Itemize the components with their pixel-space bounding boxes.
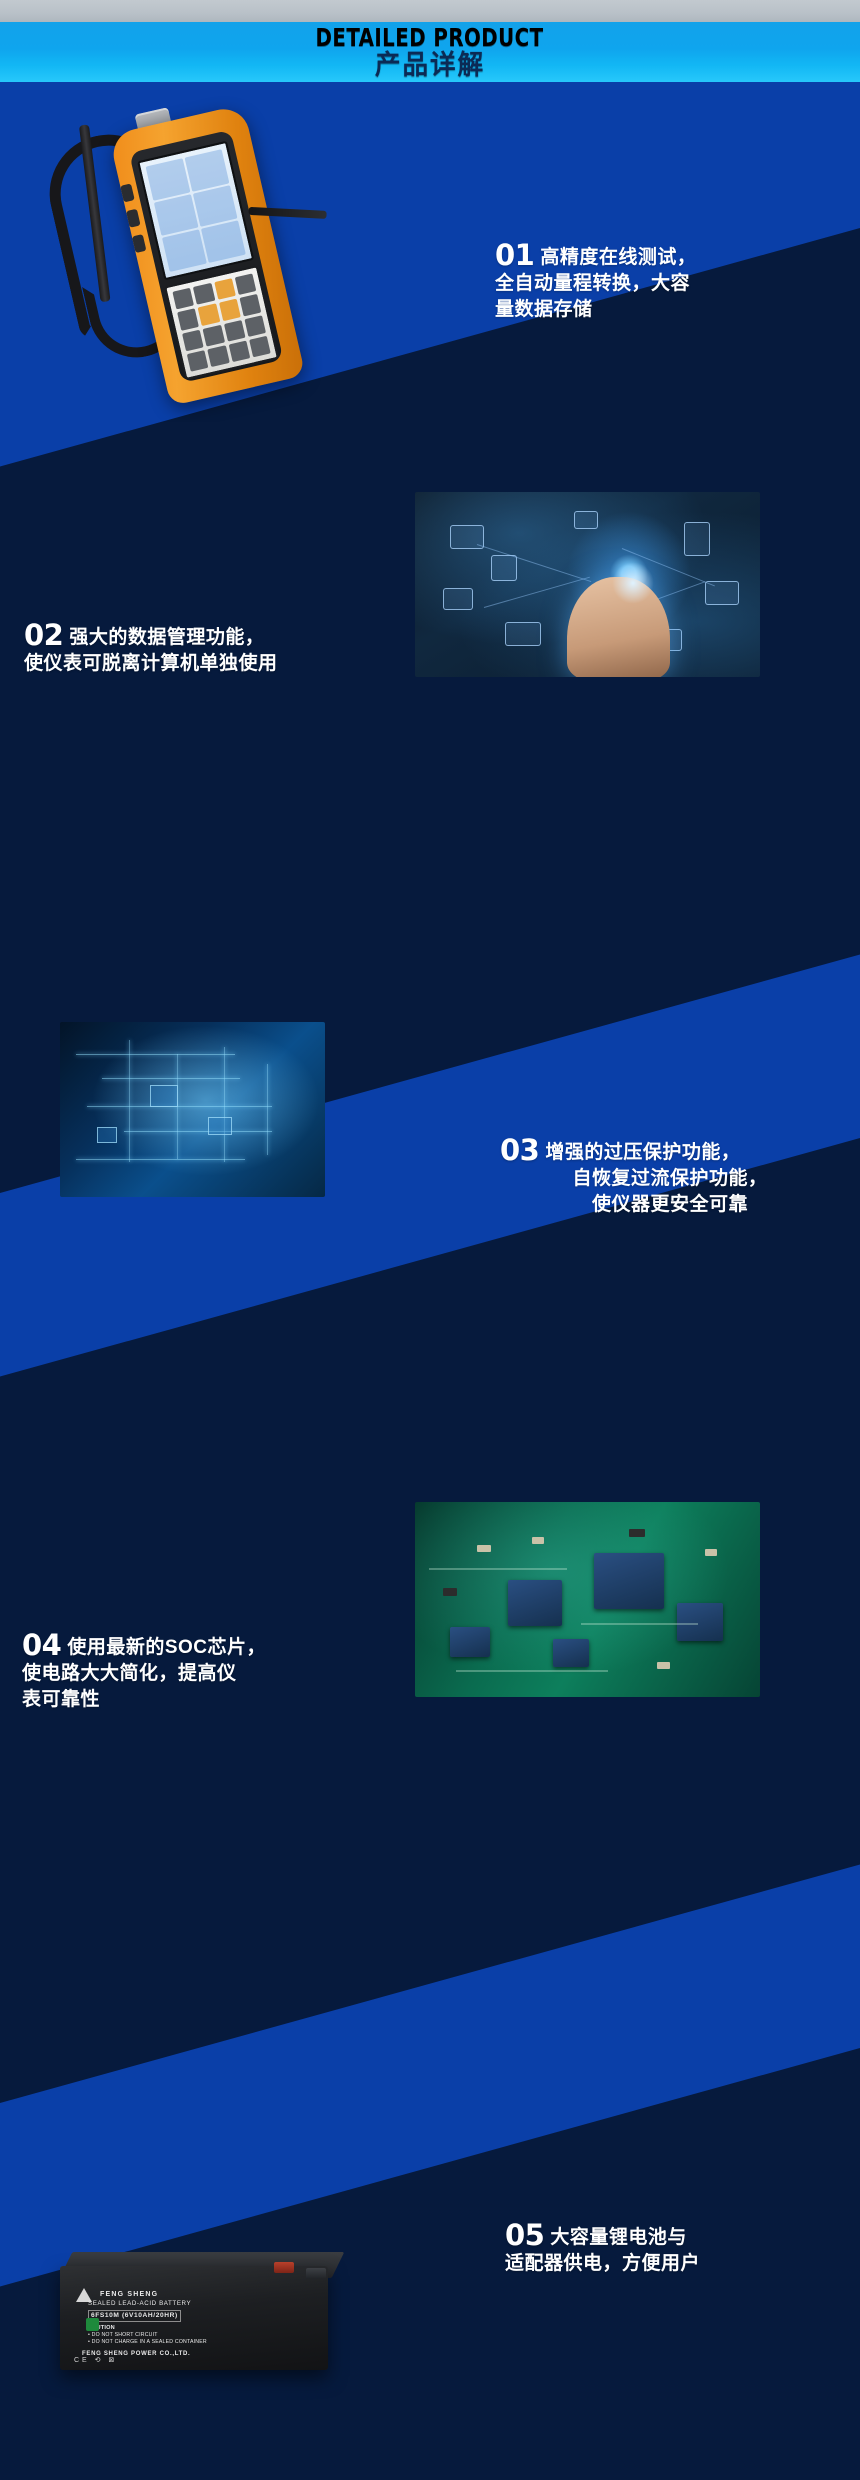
feature-05-line-1: 05大容量锂电池与 bbox=[505, 2222, 845, 2251]
feature-05-number: 05 bbox=[505, 2218, 544, 2252]
battery-green-sticker bbox=[86, 2318, 99, 2331]
touch-glow bbox=[612, 562, 654, 604]
feature-03-line-1: 03增强的过压保护功能， bbox=[500, 1137, 840, 1166]
page-title-english: DETAILED PRODUCT bbox=[316, 25, 544, 50]
feature-03-line-3: 使仪器更安全可靠 bbox=[500, 1192, 840, 1218]
feature-row-01: 01高精度在线测试， 全自动量程转换，大容 量数据存储 bbox=[0, 82, 860, 502]
feature-01-line-3: 量数据存储 bbox=[495, 297, 840, 323]
battery-caution-line-2: • DO NOT CHARGE IN A SEALED CONTAINER bbox=[88, 2339, 304, 2347]
battery-caution-title: CAUTION bbox=[88, 2324, 304, 2332]
page-header-banner: DETAILED PRODUCT 产品详解 bbox=[0, 22, 860, 82]
feature-row-03: 03增强的过压保护功能， 自恢复过流保护功能， 使仪器更安全可靠 bbox=[0, 1032, 860, 1512]
feature-04-line-1: 04使用最新的SOC芯片， bbox=[22, 1632, 352, 1661]
feature-01-line-1: 01高精度在线测试， bbox=[495, 242, 840, 271]
battery-model-text: 6FS10M (6V10AH/20HR) bbox=[88, 2310, 181, 2322]
feature-row-04: 04使用最新的SOC芯片， 使电路大大简化，提高仪 表可靠性 bbox=[0, 1512, 860, 2012]
feature-sections-container: 01高精度在线测试， 全自动量程转换，大容 量数据存储 02强大的数据管 bbox=[0, 82, 860, 2480]
feature-row-02: 02强大的数据管理功能， 使仪表可脱离计算机单独使用 bbox=[0, 502, 860, 1032]
green-pcb-chips-photo bbox=[415, 1502, 760, 1697]
feature-text-04: 04使用最新的SOC芯片， 使电路大大简化，提高仪 表可靠性 bbox=[22, 1632, 352, 1713]
blue-circuit-board-photo bbox=[60, 1022, 325, 1197]
battery-brand-text: FENG SHENG bbox=[100, 2290, 304, 2300]
feature-03-line-2: 自恢复过流保护功能， bbox=[500, 1166, 840, 1192]
battery-illustration: FENG SHENG SEALED LEAD-ACID BATTERY 6FS1… bbox=[60, 2252, 350, 2380]
page-title-chinese: 产品详解 bbox=[375, 52, 485, 79]
battery-case: FENG SHENG SEALED LEAD-ACID BATTERY 6FS1… bbox=[60, 2266, 328, 2370]
feature-01-line-2: 全自动量程转换，大容 bbox=[495, 271, 840, 297]
battery-type-text: SEALED LEAD-ACID BATTERY bbox=[88, 2300, 304, 2309]
touch-interface-network-photo bbox=[415, 492, 760, 677]
battery-label: FENG SHENG SEALED LEAD-ACID BATTERY 6FS1… bbox=[74, 2290, 304, 2366]
feature-text-02: 02强大的数据管理功能， 使仪表可脱离计算机单独使用 bbox=[24, 622, 354, 677]
feature-05-line-2: 适配器供电，方便用户 bbox=[505, 2251, 845, 2277]
battery-certification-icons: CE ⟲ ⊠ bbox=[74, 2356, 117, 2364]
feature-01-number: 01 bbox=[495, 238, 534, 272]
battery-positive-terminal bbox=[274, 2262, 294, 2273]
feature-02-line-1: 02强大的数据管理功能， bbox=[24, 622, 354, 651]
feature-03-number: 03 bbox=[500, 1133, 539, 1167]
feature-text-05: 05大容量锂电池与 适配器供电，方便用户 bbox=[505, 2222, 845, 2277]
feature-02-number: 02 bbox=[24, 618, 63, 652]
feature-text-01: 01高精度在线测试， 全自动量程转换，大容 量数据存储 bbox=[495, 242, 840, 323]
feature-04-line-3: 表可靠性 bbox=[22, 1687, 352, 1713]
feature-text-03: 03增强的过压保护功能， 自恢复过流保护功能， 使仪器更安全可靠 bbox=[500, 1137, 840, 1218]
feature-row-05: FENG SHENG SEALED LEAD-ACID BATTERY 6FS1… bbox=[0, 2012, 860, 2480]
battery-negative-terminal bbox=[306, 2268, 326, 2279]
lead-acid-battery-photo: FENG SHENG SEALED LEAD-ACID BATTERY 6FS1… bbox=[0, 2242, 380, 2422]
tester-device-illustration bbox=[31, 92, 340, 422]
feature-04-number: 04 bbox=[22, 1628, 61, 1662]
feature-04-line-2: 使电路大大简化，提高仪 bbox=[22, 1661, 352, 1687]
battery-caution-line-1: • DO NOT SHORT CIRCUIT bbox=[88, 2332, 304, 2340]
feature-02-line-2: 使仪表可脱离计算机单独使用 bbox=[24, 651, 354, 677]
handheld-battery-tester-photo bbox=[20, 92, 340, 422]
top-grey-strip bbox=[0, 0, 860, 22]
